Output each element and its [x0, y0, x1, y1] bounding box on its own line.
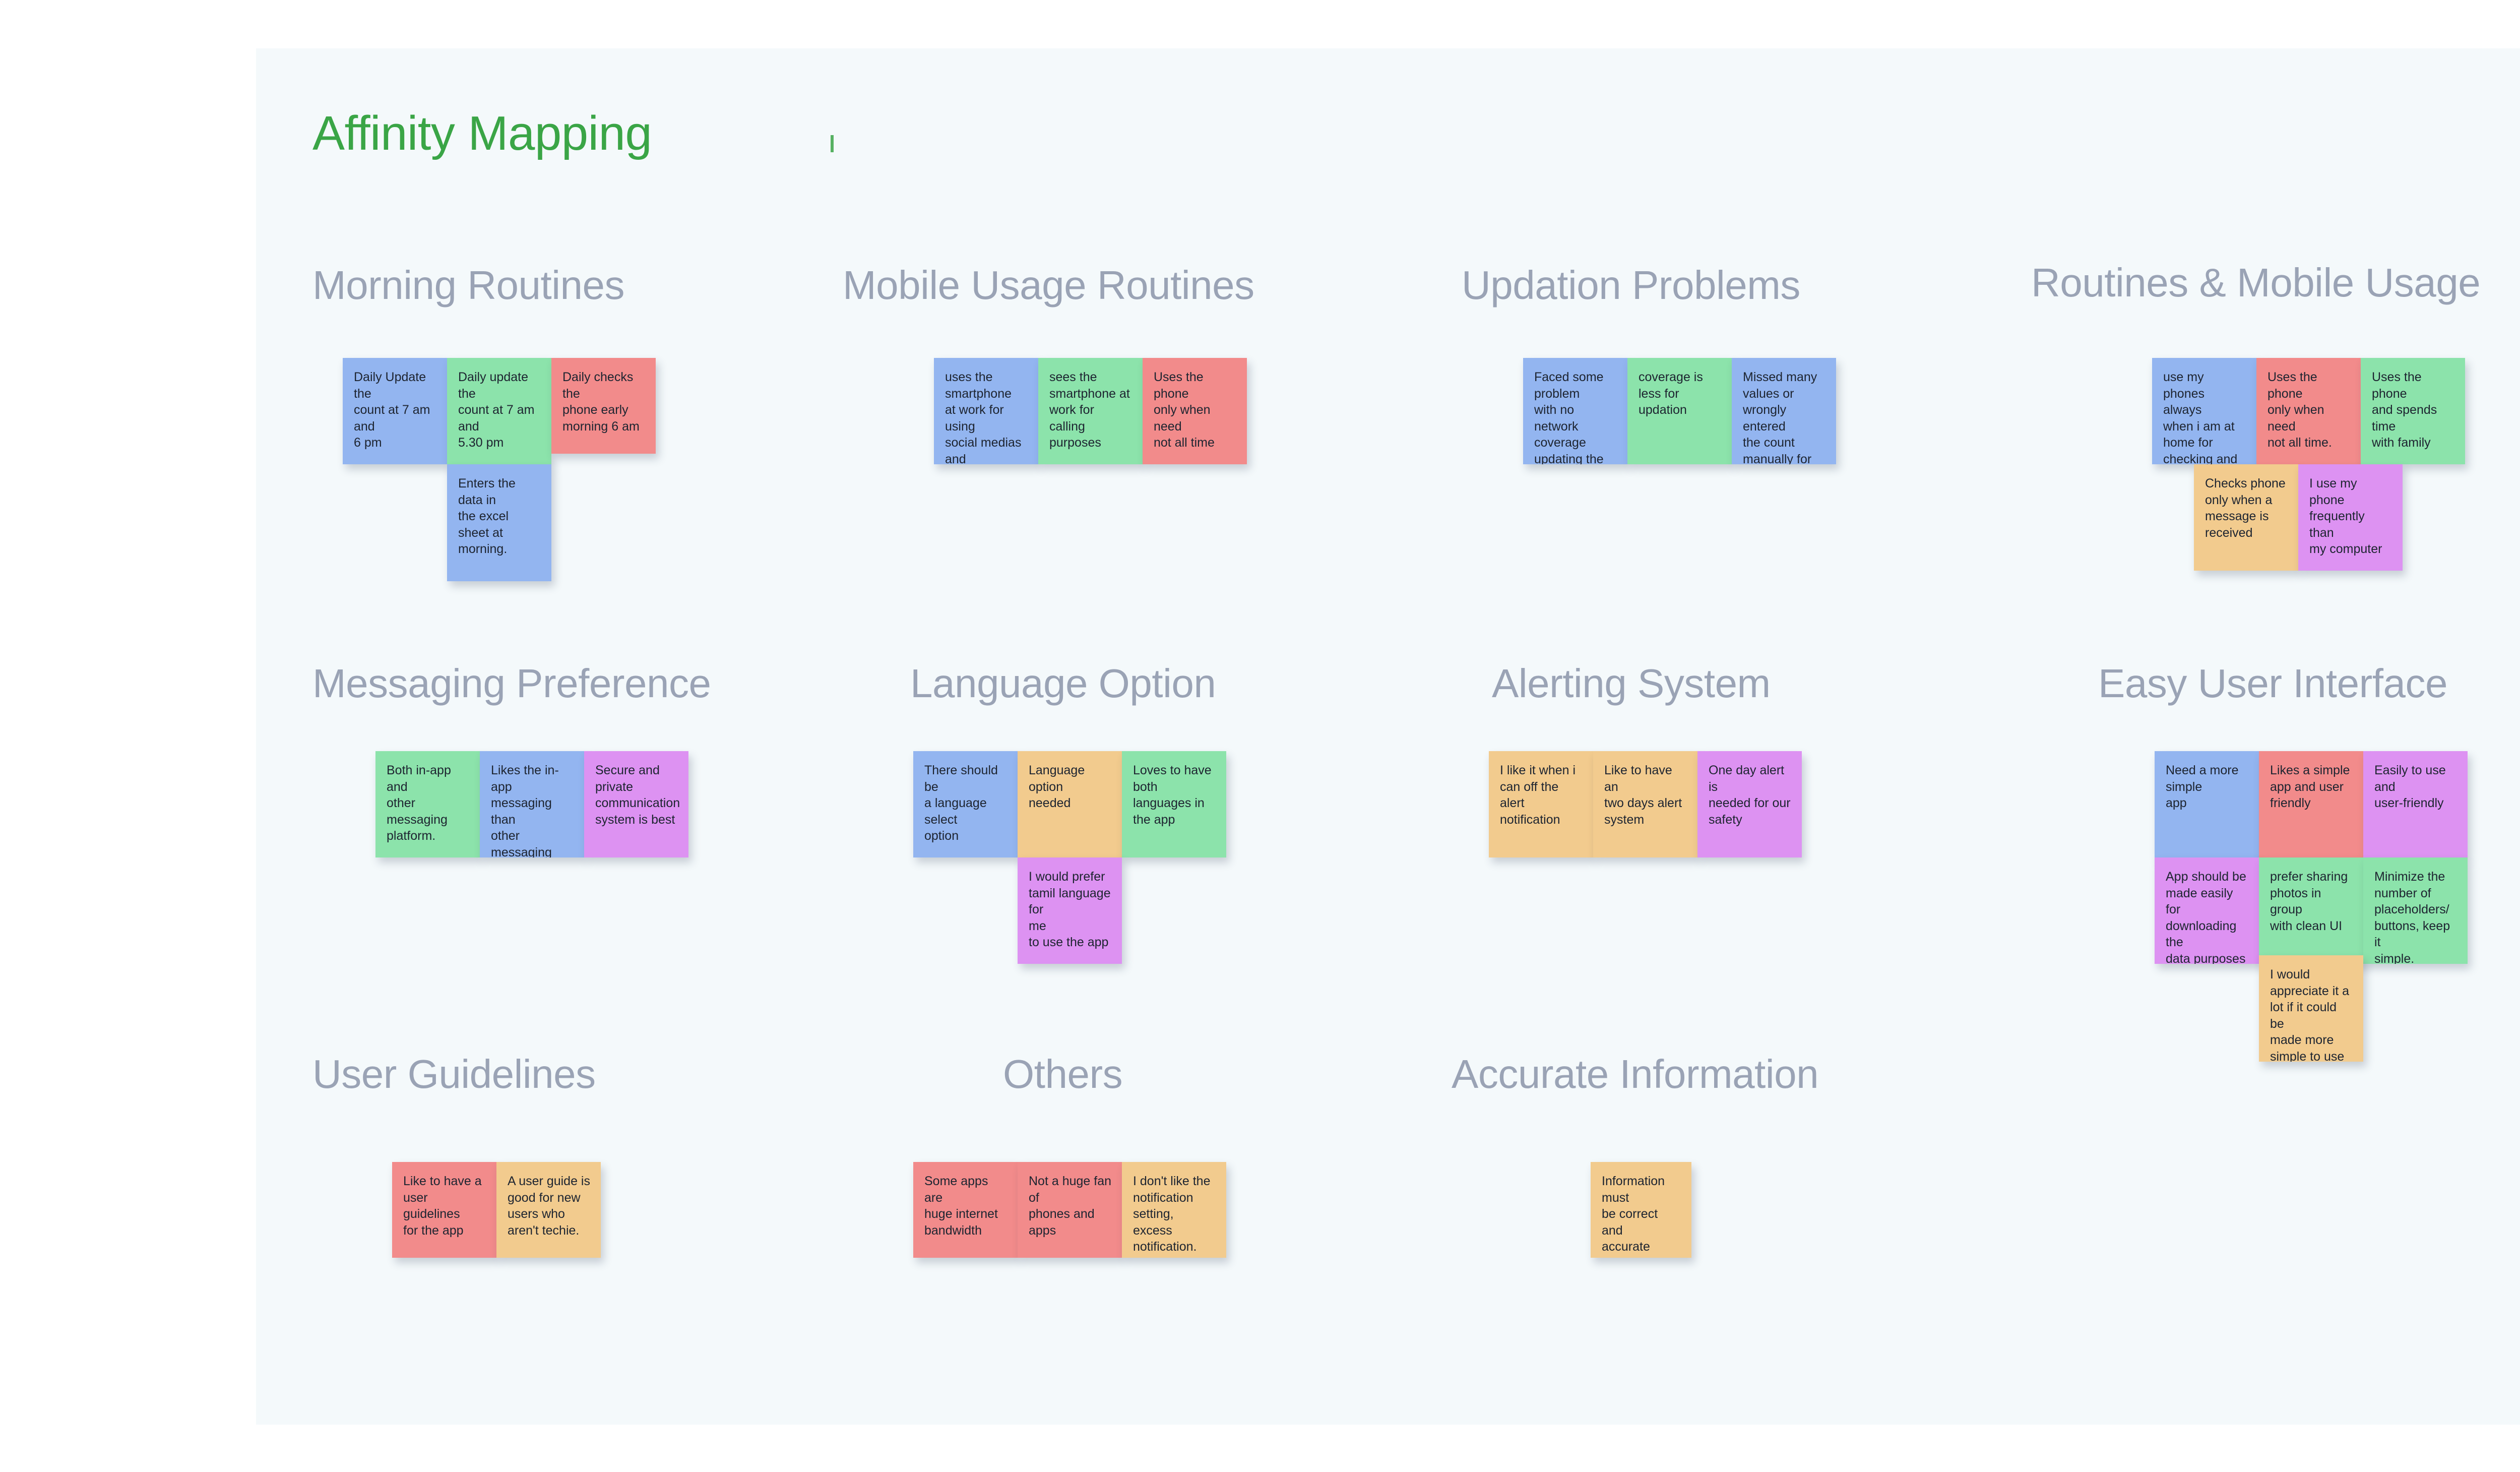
sticky-note[interactable]: Secure and private communication system … — [584, 751, 688, 857]
sticky-note[interactable]: Likes the in-app messaging than other me… — [480, 751, 584, 857]
sticky-note[interactable]: prefer sharing photos in group with clea… — [2259, 857, 2363, 964]
sticky-note[interactable]: A user guide is good for new users who a… — [496, 1162, 601, 1258]
cluster-heading-morning-routines[interactable]: Morning Routines — [312, 262, 624, 309]
sticky-note[interactable]: Checks phone only when a message is rece… — [2194, 464, 2298, 571]
sticky-note[interactable]: Like to have an two days alert system — [1593, 751, 1697, 857]
sticky-note[interactable]: Easily to use and user-friendly — [2363, 751, 2468, 857]
sticky-note[interactable]: Daily Update the count at 7 am and 6 pm — [343, 358, 447, 464]
sticky-note[interactable]: Language option needed — [1018, 751, 1122, 857]
sticky-note[interactable]: One day alert is needed for our safety — [1697, 751, 1802, 857]
sticky-note[interactable]: Minimize the number of placeholders/ but… — [2363, 857, 2468, 964]
sticky-note[interactable]: Daily checks the phone early morning 6 a… — [551, 358, 656, 454]
cluster-heading-updation-problems[interactable]: Updation Problems — [1462, 262, 1800, 309]
sticky-note[interactable]: Information must be correct and accurate — [1591, 1162, 1691, 1258]
cluster-heading-easy-user-interface[interactable]: Easy User Interface — [2098, 660, 2447, 707]
sticky-note[interactable]: I would prefer tamil language for me to … — [1018, 857, 1122, 964]
sticky-note[interactable]: Missed many values or wrongly entered th… — [1732, 358, 1836, 464]
board-title: Affinity Mapping — [312, 106, 652, 161]
sticky-note[interactable]: Need a more simple app — [2155, 751, 2259, 857]
sticky-note[interactable]: Uses the phone only when need not all ti… — [1143, 358, 1247, 464]
text-cursor-caret — [831, 135, 834, 152]
cluster-heading-routines-and-mobile-usage[interactable]: Routines & Mobile Usage — [2031, 260, 2480, 306]
sticky-note[interactable]: uses the smartphone at work for using so… — [934, 358, 1038, 464]
sticky-note[interactable]: App should be made easily for downloadin… — [2155, 857, 2259, 964]
cluster-heading-alerting-system[interactable]: Alerting System — [1492, 660, 1771, 707]
cluster-heading-language-option[interactable]: Language Option — [910, 660, 1216, 707]
sticky-note[interactable]: Enters the data in the excel sheet at mo… — [447, 464, 551, 581]
sticky-note[interactable]: I like it when i can off the alert notif… — [1489, 751, 1593, 857]
sticky-note[interactable]: There should be a language select option — [913, 751, 1018, 857]
sticky-note[interactable]: I don't like the notification setting, e… — [1122, 1162, 1226, 1258]
sticky-note[interactable]: I would appreciate it a lot if it could … — [2259, 955, 2363, 1062]
sticky-note[interactable]: I use my phone frequently than my comput… — [2298, 464, 2403, 571]
cluster-heading-others[interactable]: Others — [1003, 1051, 1122, 1097]
sticky-note[interactable]: use my phones always when i am at home f… — [2152, 358, 2256, 464]
sticky-note[interactable]: Not a huge fan of phones and apps — [1018, 1162, 1122, 1258]
sticky-note[interactable]: Both in-app and other messaging platform… — [375, 751, 480, 857]
sticky-note[interactable]: Daily update the count at 7 am and 5.30 … — [447, 358, 551, 464]
sticky-note[interactable]: Uses the phone and spends time with fami… — [2361, 358, 2465, 464]
sticky-note[interactable]: Some apps are huge internet bandwidth — [913, 1162, 1018, 1258]
cluster-heading-accurate-information[interactable]: Accurate Information — [1452, 1051, 1818, 1097]
sticky-note[interactable]: Uses the phone only when need not all ti… — [2256, 358, 2361, 464]
sticky-note[interactable]: Likes a simple app and user friendly — [2259, 751, 2363, 857]
sticky-note[interactable]: Like to have a user guidelines for the a… — [392, 1162, 496, 1258]
sticky-note[interactable]: Faced some problem with no network cover… — [1523, 358, 1627, 464]
cluster-heading-mobile-usage-routines[interactable]: Mobile Usage Routines — [843, 262, 1254, 309]
cluster-heading-messaging-preference[interactable]: Messaging Preference — [312, 660, 711, 707]
sticky-note[interactable]: sees the smartphone at work for calling … — [1038, 358, 1143, 464]
sticky-note[interactable]: coverage is less for updation — [1627, 358, 1732, 464]
cluster-heading-user-guidelines[interactable]: User Guidelines — [312, 1051, 596, 1097]
sticky-note[interactable]: Loves to have both languages in the app — [1122, 751, 1226, 857]
